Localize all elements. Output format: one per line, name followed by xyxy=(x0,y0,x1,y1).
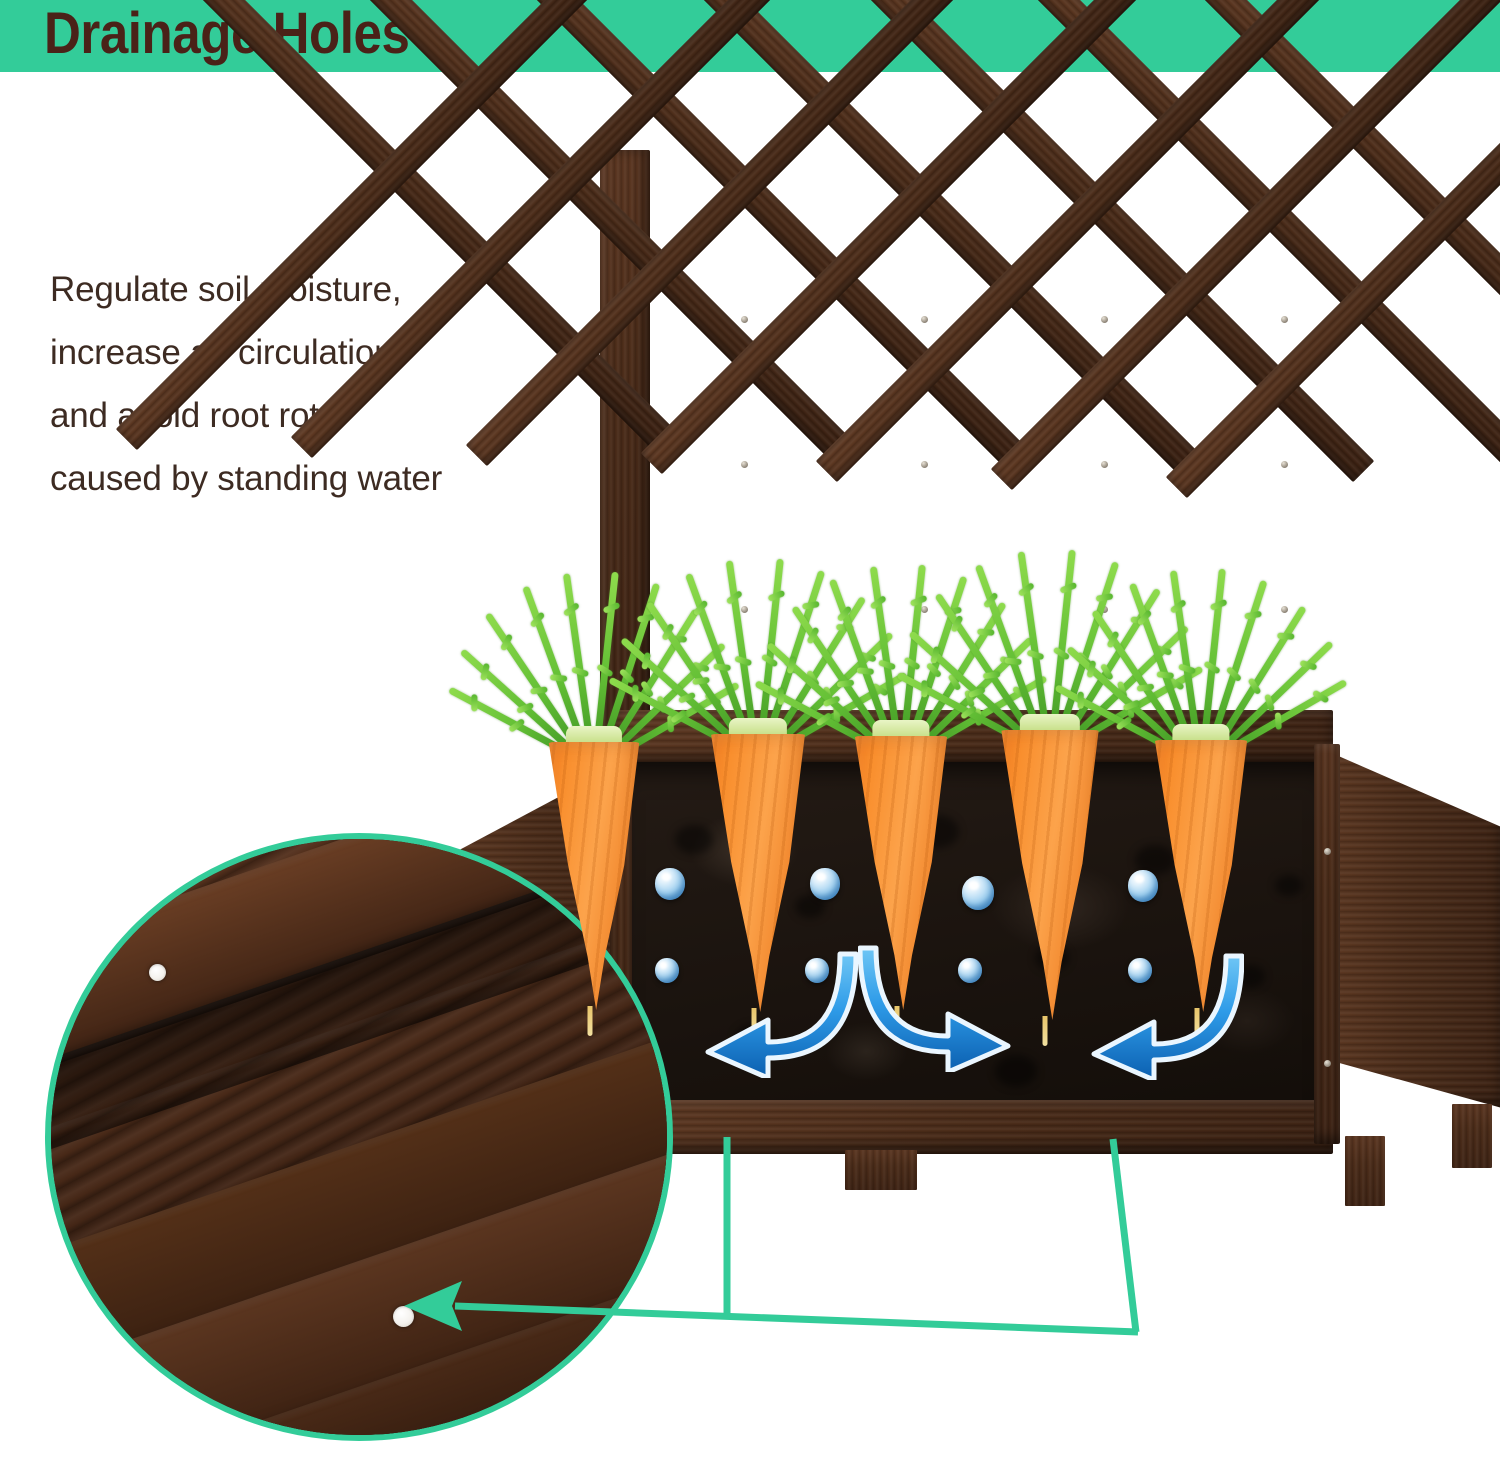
screw-icon xyxy=(1101,316,1108,323)
screw-icon xyxy=(741,461,748,468)
planter-right-panel xyxy=(1320,748,1500,1108)
planter-leg-center xyxy=(845,1150,917,1190)
planter-leg-far-right xyxy=(1452,1104,1492,1168)
screw-icon xyxy=(921,461,928,468)
water-droplet xyxy=(655,958,679,983)
carrot xyxy=(540,742,648,1010)
water-droplet xyxy=(1128,870,1158,902)
planter-leg-right xyxy=(1345,1136,1385,1206)
drainage-hole xyxy=(149,964,166,981)
soil-clod xyxy=(1275,875,1303,896)
carrot-tip xyxy=(587,1006,592,1036)
screw-icon xyxy=(741,316,748,323)
screw-icon xyxy=(1281,316,1288,323)
screw-icon xyxy=(1324,1060,1331,1067)
screw-icon xyxy=(1281,461,1288,468)
screw-icon xyxy=(1101,461,1108,468)
airflow-arrow-left xyxy=(1076,940,1244,1080)
carrot-tip xyxy=(1043,1016,1048,1046)
planter-front-face xyxy=(615,1100,1333,1154)
water-droplet xyxy=(655,868,685,900)
water-droplet xyxy=(810,868,840,900)
water-droplet xyxy=(962,876,994,910)
airflow-arrow-left xyxy=(690,938,858,1078)
airflow-arrow-right xyxy=(858,932,1026,1072)
carrot-root xyxy=(540,742,648,1010)
screw-icon xyxy=(921,316,928,323)
planter-corner-post-right xyxy=(1314,744,1340,1144)
drainage-hole xyxy=(393,1306,414,1327)
screw-icon xyxy=(1324,848,1331,855)
